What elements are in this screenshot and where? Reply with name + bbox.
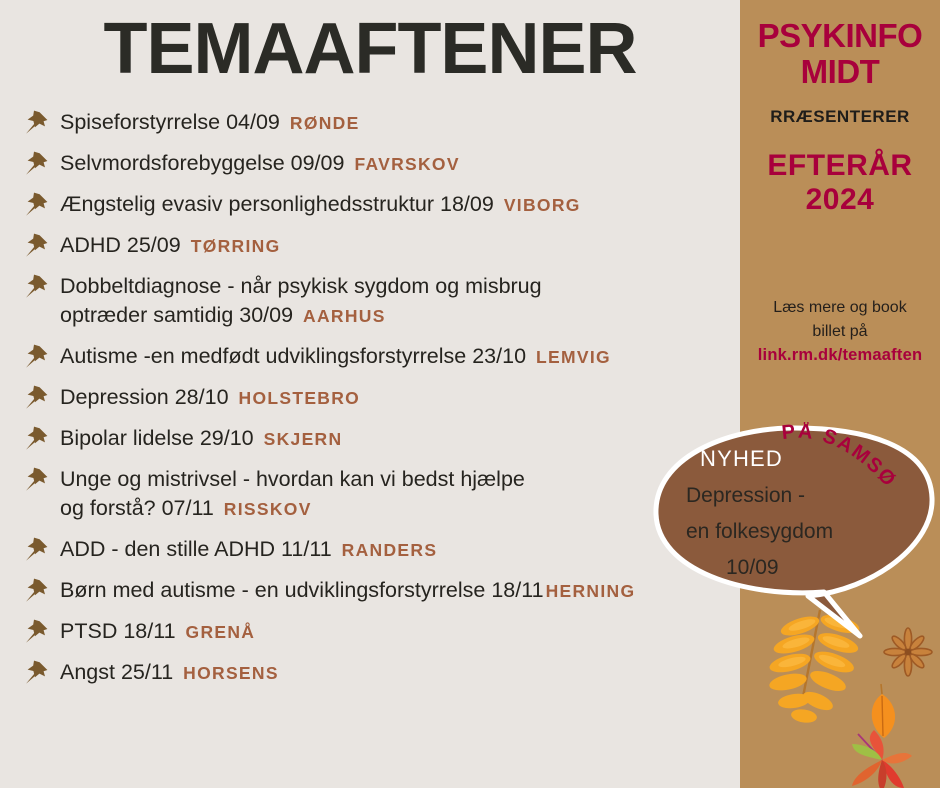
event-text: PTSD 18/11GRENÅ <box>60 617 740 647</box>
event-city-label: TØRRING <box>191 236 281 256</box>
event-text: Depression 28/10HOLSTEBRO <box>60 383 740 413</box>
event-title-line: ADHD 25/09TØRRING <box>60 231 740 261</box>
event-item[interactable]: ADHD 25/09TØRRING <box>24 231 740 261</box>
event-text: Unge og mistrivsel - hvordan kan vi beds… <box>60 465 740 524</box>
event-text: ADHD 25/09TØRRING <box>60 231 740 261</box>
booking-line-2: billet på <box>752 320 928 343</box>
event-title-text: PTSD 18/11 <box>60 619 176 643</box>
pushpin-icon <box>24 426 50 452</box>
palmate-leaf-icon <box>852 730 912 788</box>
season-line-2: 2024 <box>740 183 940 217</box>
event-title-line: PTSD 18/11GRENÅ <box>60 617 740 647</box>
pushpin-icon <box>24 467 50 493</box>
event-text: Ængstelig evasiv personlighedsstruktur 1… <box>60 190 740 220</box>
event-title-text: ADD - den stille ADHD 11/11 <box>60 537 332 561</box>
event-title-line: og forstå? 07/11RISSKOV <box>60 494 740 524</box>
news-speech-bubble: NYHED Depression - en folkesygdom 10/09 … <box>648 422 940 652</box>
event-item[interactable]: Børn med autisme - en udviklingsforstyrr… <box>24 576 740 606</box>
pushpin-icon <box>24 233 50 259</box>
event-title-line: Depression 28/10HOLSTEBRO <box>60 383 740 413</box>
event-text: Bipolar lidelse 29/10SKJERN <box>60 424 740 454</box>
event-title-line: Børn med autisme - en udviklingsforstyrr… <box>60 576 740 606</box>
pushpin-icon <box>24 192 50 218</box>
event-text: Autisme -en medfødt udviklingsforstyrrel… <box>60 342 740 372</box>
presents-label: RRÆSENTERER <box>740 107 940 127</box>
event-text: Dobbeltdiagnose - når psykisk sygdom og … <box>60 272 740 331</box>
event-city-label: HERNING <box>546 581 636 601</box>
event-title-text: Bipolar lidelse 29/10 <box>60 426 254 450</box>
event-city-label: RANDERS <box>342 540 438 560</box>
pushpin-icon <box>24 344 50 370</box>
event-city-label: HOLSTEBRO <box>239 388 361 408</box>
event-title-text: Ængstelig evasiv personlighedsstruktur 1… <box>60 192 494 216</box>
event-city-label: FAVRSKOV <box>354 154 459 174</box>
pushpin-icon <box>24 619 50 645</box>
pushpin-icon <box>24 537 50 563</box>
brand-title: PSYKINFO MIDT <box>740 18 940 89</box>
event-item[interactable]: Spiseforstyrrelse 04/09RØNDE <box>24 108 740 138</box>
event-city-label: RØNDE <box>290 113 360 133</box>
event-item[interactable]: Depression 28/10HOLSTEBRO <box>24 383 740 413</box>
event-item[interactable]: Bipolar lidelse 29/10SKJERN <box>24 424 740 454</box>
event-item[interactable]: Angst 25/11HORSENS <box>24 658 740 688</box>
event-item[interactable]: Autisme -en medfødt udviklingsforstyrrel… <box>24 342 740 372</box>
event-title-text: Dobbeltdiagnose - når psykisk sygdom og … <box>60 274 542 298</box>
booking-line-1: Læs mere og book <box>752 296 928 319</box>
event-title-text: Selvmordsforebyggelse 09/09 <box>60 151 344 175</box>
event-city-label: LEMVIG <box>536 347 611 367</box>
event-title-line: optræder samtidig 30/09AARHUS <box>60 301 740 331</box>
season-title: EFTERÅR 2024 <box>740 149 940 216</box>
pushpin-icon <box>24 660 50 686</box>
event-text: ADD - den stille ADHD 11/11RANDERS <box>60 535 740 565</box>
event-text: Børn med autisme - en udviklingsforstyrr… <box>60 576 740 606</box>
event-list: Spiseforstyrrelse 04/09RØNDESelvmordsfor… <box>24 108 740 699</box>
event-title-line: Selvmordsforebyggelse 09/09FAVRSKOV <box>60 149 740 179</box>
pushpin-icon <box>24 578 50 604</box>
brand-line-1: PSYKINFO <box>740 18 940 54</box>
pushpin-icon <box>24 110 50 136</box>
event-city-label: HORSENS <box>183 663 279 683</box>
pushpin-icon <box>24 385 50 411</box>
poster-canvas: TEMAAFTENER Spiseforstyrrelse 04/09RØNDE… <box>0 0 940 788</box>
event-title-text: Angst 25/11 <box>60 660 173 684</box>
season-line-1: EFTERÅR <box>740 149 940 183</box>
event-city-label: VIBORG <box>504 195 581 215</box>
booking-link[interactable]: link.rm.dk/temaaften <box>740 346 940 365</box>
event-item[interactable]: Dobbeltdiagnose - når psykisk sygdom og … <box>24 272 740 331</box>
page-title: TEMAAFTENER <box>0 8 740 90</box>
pushpin-icon <box>24 274 50 300</box>
event-title-text: og forstå? 07/11 <box>60 496 214 520</box>
event-title-line: ADD - den stille ADHD 11/11RANDERS <box>60 535 740 565</box>
event-city-label: RISSKOV <box>224 499 312 519</box>
event-item[interactable]: Selvmordsforebyggelse 09/09FAVRSKOV <box>24 149 740 179</box>
event-item[interactable]: Unge og mistrivsel - hvordan kan vi beds… <box>24 465 740 524</box>
event-title-line: Dobbeltdiagnose - når psykisk sygdom og … <box>60 272 740 301</box>
event-title-text: Unge og mistrivsel - hvordan kan vi beds… <box>60 467 525 491</box>
bubble-shape <box>656 428 932 636</box>
event-title-text: Spiseforstyrrelse 04/09 <box>60 110 280 134</box>
event-title-line: Ængstelig evasiv personlighedsstruktur 1… <box>60 190 740 220</box>
booking-info: Læs mere og book billet på <box>740 296 940 342</box>
event-city-label: GRENÅ <box>186 622 256 642</box>
event-title-line: Unge og mistrivsel - hvordan kan vi beds… <box>60 465 740 494</box>
event-title-text: ADHD 25/09 <box>60 233 181 257</box>
event-item[interactable]: PTSD 18/11GRENÅ <box>24 617 740 647</box>
orange-leaf-icon <box>872 684 895 738</box>
event-city-label: SKJERN <box>264 429 343 449</box>
pushpin-icon <box>24 151 50 177</box>
event-title-line: Autisme -en medfødt udviklingsforstyrrel… <box>60 342 740 372</box>
event-text: Spiseforstyrrelse 04/09RØNDE <box>60 108 740 138</box>
event-title-text: Depression 28/10 <box>60 385 229 409</box>
event-text: Angst 25/11HORSENS <box>60 658 740 688</box>
event-item[interactable]: ADD - den stille ADHD 11/11RANDERS <box>24 535 740 565</box>
event-city-label: AARHUS <box>303 306 386 326</box>
brand-line-2: MIDT <box>740 54 940 90</box>
event-title-line: Spiseforstyrrelse 04/09RØNDE <box>60 108 740 138</box>
event-title-text: Autisme -en medfødt udviklingsforstyrrel… <box>60 344 526 368</box>
event-title-line: Angst 25/11HORSENS <box>60 658 740 688</box>
event-text: Selvmordsforebyggelse 09/09FAVRSKOV <box>60 149 740 179</box>
event-title-text: optræder samtidig 30/09 <box>60 303 293 327</box>
event-title-text: Børn med autisme - en udviklingsforstyrr… <box>60 578 544 602</box>
event-title-line: Bipolar lidelse 29/10SKJERN <box>60 424 740 454</box>
event-item[interactable]: Ængstelig evasiv personlighedsstruktur 1… <box>24 190 740 220</box>
